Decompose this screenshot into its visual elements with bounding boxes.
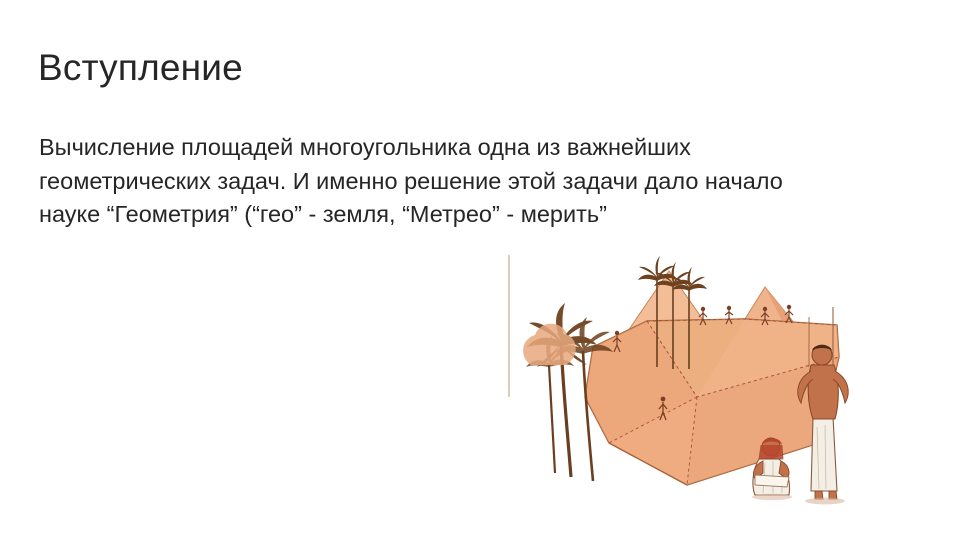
page-title: Вступление xyxy=(38,48,243,89)
presentation-slide: Вступление Вычисление площадей многоугол… xyxy=(0,0,980,551)
egyptian-land-surveyors-illustration xyxy=(497,247,865,507)
slide-body-text: Вычисление площадей многоугольника одна … xyxy=(39,131,899,232)
body-line-1: Вычисление площадей многоугольника одна … xyxy=(39,131,899,165)
body-line-2: геометрических задач. И именно решение э… xyxy=(39,165,899,199)
body-line-3: науке “Геометрия” (“гео” - земля, “Метре… xyxy=(39,198,899,232)
